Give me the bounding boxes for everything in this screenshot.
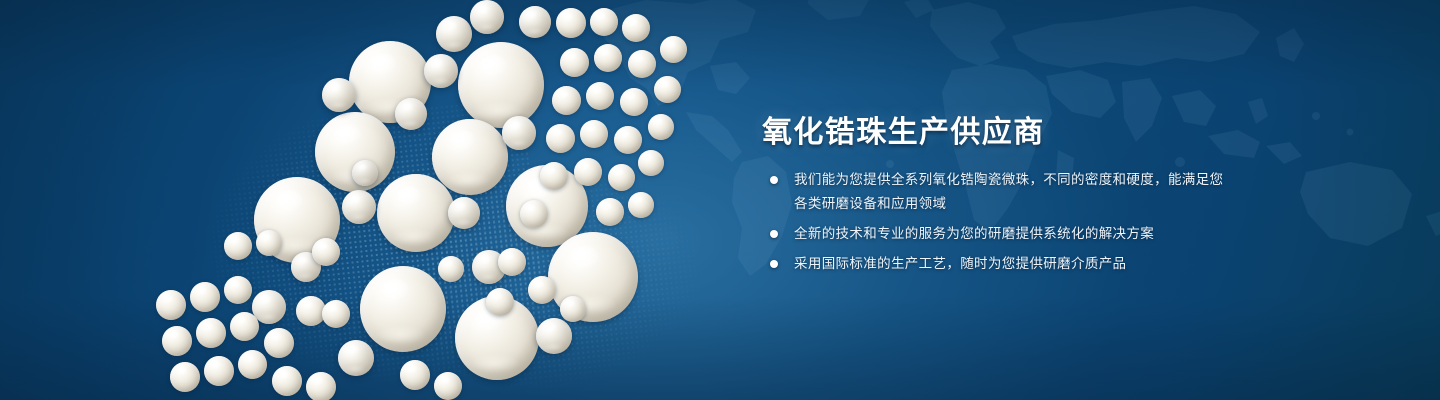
feature-list: 我们能为您提供全系列氧化锆陶瓷微珠，不同的密度和硬度，能满足您各类研磨设备和应用… (764, 168, 1234, 276)
bullet-dot-icon (770, 176, 778, 184)
list-item-label: 采用国际标准的生产工艺，随时为您提供研磨介质产品 (794, 252, 1234, 276)
list-item-label: 全新的技术和专业的服务为您的研磨提供系统化的解决方案 (794, 222, 1234, 246)
banner-content: 氧化锆珠生产供应商 我们能为您提供全系列氧化锆陶瓷微珠，不同的密度和硬度，能满足… (762, 0, 1322, 400)
list-item: 采用国际标准的生产工艺，随时为您提供研磨介质产品 (764, 252, 1234, 276)
list-item: 全新的技术和专业的服务为您的研磨提供系统化的解决方案 (764, 222, 1234, 246)
bullet-dot-icon (770, 260, 778, 268)
hero-banner: 氧化锆珠生产供应商 我们能为您提供全系列氧化锆陶瓷微珠，不同的密度和硬度，能满足… (0, 0, 1440, 400)
bullet-dot-icon (770, 230, 778, 238)
list-item: 我们能为您提供全系列氧化锆陶瓷微珠，不同的密度和硬度，能满足您各类研磨设备和应用… (764, 168, 1234, 216)
list-item-label: 我们能为您提供全系列氧化锆陶瓷微珠，不同的密度和硬度，能满足您各类研磨设备和应用… (794, 168, 1234, 216)
page-title: 氧化锆珠生产供应商 (762, 107, 1045, 151)
